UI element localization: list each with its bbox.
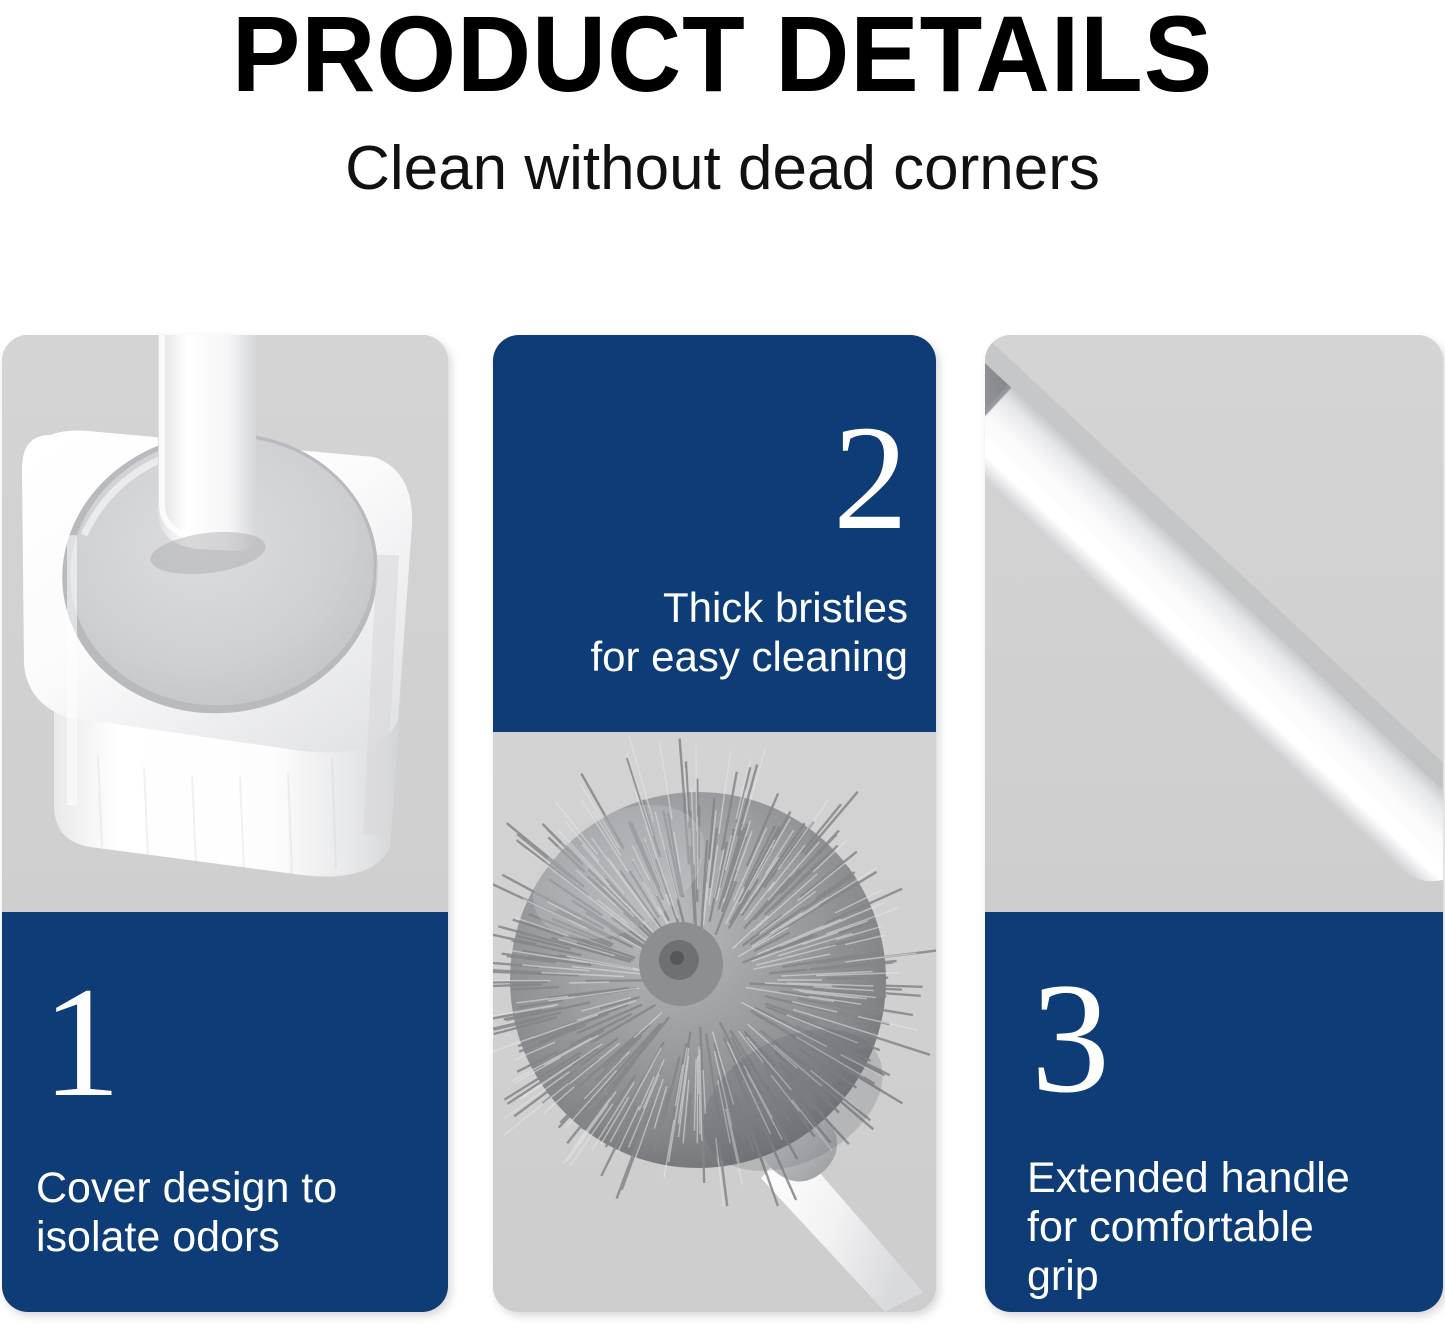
product-photo-holder: [2, 335, 448, 912]
step-caption-1: Cover design to isolate odors: [36, 1164, 414, 1262]
detail-panel-1: 1 Cover design to isolate odors: [2, 335, 448, 1312]
brush-head-bristles-illustration: [493, 732, 936, 1312]
product-photo-handle: [985, 335, 1443, 912]
toilet-brush-holder-illustration: [2, 335, 448, 912]
step-number-2: 2: [521, 335, 908, 549]
product-photo-bristles: [493, 732, 936, 1312]
step-caption-3: Extended handle for comfortable grip: [1027, 1154, 1403, 1301]
step-number-3: 3: [1031, 964, 1403, 1114]
page-subtitle: Clean without dead corners: [0, 106, 1445, 204]
caption-block-2: 2 Thick bristles for easy cleaning: [493, 335, 936, 732]
page-title: PRODUCT DETAILS: [36, 0, 1409, 106]
detail-panel-3: 3 Extended handle for comfortable grip: [985, 335, 1443, 1312]
caption-block-3: 3 Extended handle for comfortable grip: [985, 912, 1443, 1312]
header: PRODUCT DETAILS Clean without dead corne…: [0, 0, 1445, 204]
extended-handle-illustration: [985, 335, 1443, 912]
step-caption-2: Thick bristles for easy cleaning: [521, 583, 908, 681]
step-number-1: 1: [42, 968, 414, 1118]
detail-panel-2: 2 Thick bristles for easy cleaning: [493, 335, 936, 1312]
caption-block-1: 1 Cover design to isolate odors: [2, 912, 448, 1312]
